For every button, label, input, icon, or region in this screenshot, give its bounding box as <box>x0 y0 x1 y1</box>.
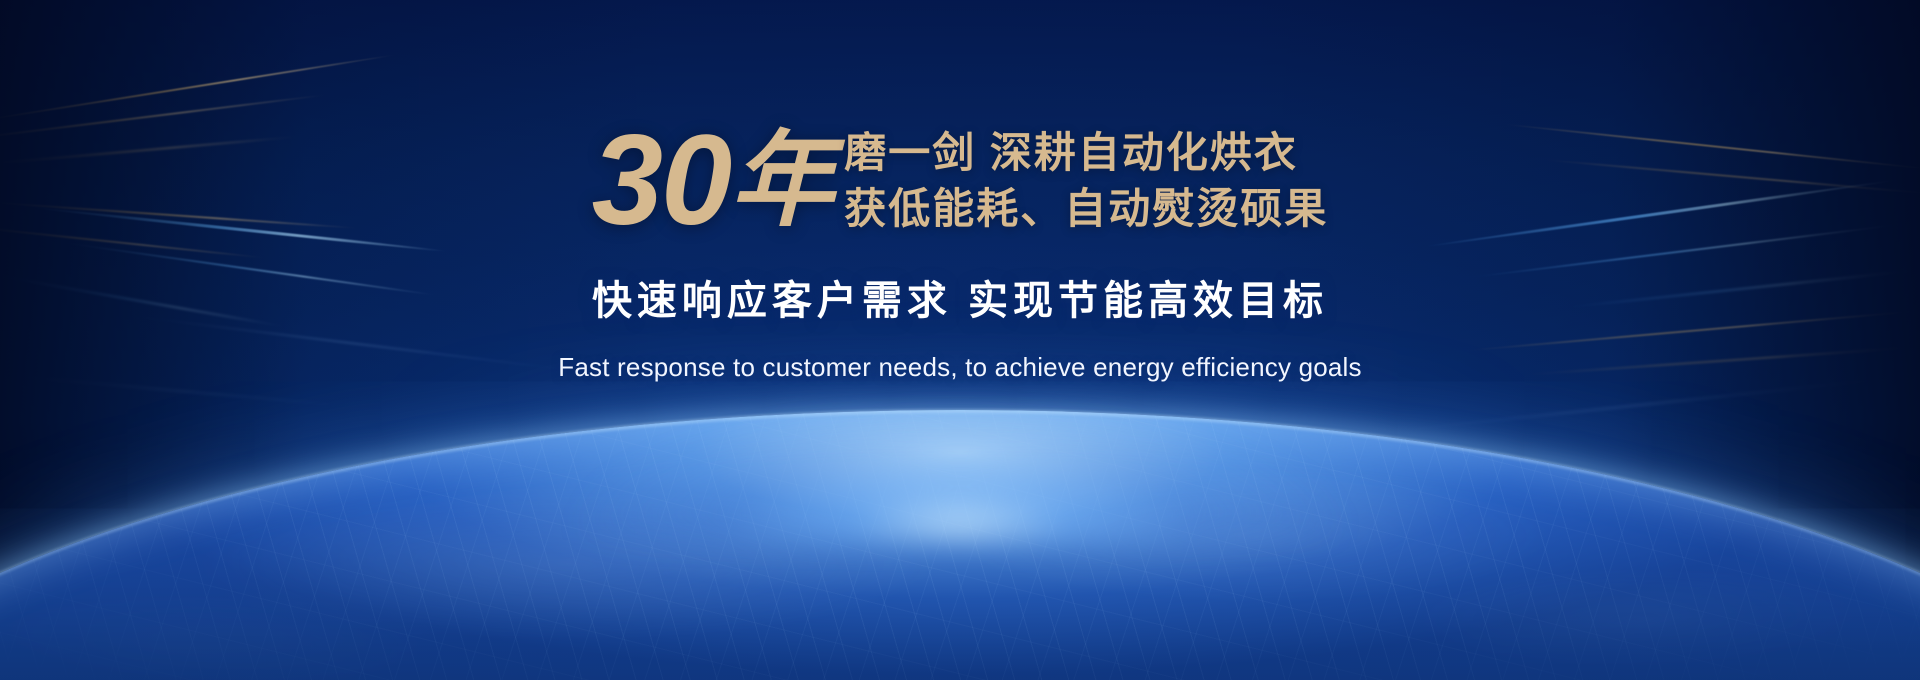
banner-content: 30 年 磨一剑 深耕自动化烘衣 获低能耗、自动熨烫硕果 快速响应客户需求 实现… <box>0 120 1920 383</box>
gold-headline-line-2: 获低能耗、自动熨烫硕果 <box>844 187 1328 231</box>
subheadline-english: Fast response to customer needs, to achi… <box>0 352 1920 383</box>
anniversary-number: 30 <box>592 120 732 242</box>
gold-headline-lines: 磨一剑 深耕自动化烘衣 获低能耗、自动熨烫硕果 <box>844 131 1328 231</box>
headline-row: 30 年 磨一剑 深耕自动化烘衣 获低能耗、自动熨烫硕果 <box>0 120 1920 242</box>
anniversary-unit-year: 年 <box>730 129 834 233</box>
gold-headline-line-1: 磨一剑 深耕自动化烘衣 <box>844 131 1328 175</box>
subheadline-chinese: 快速响应客户需求 实现节能高效目标 <box>0 268 1920 326</box>
hero-banner: 30 年 磨一剑 深耕自动化烘衣 获低能耗、自动熨烫硕果 快速响应客户需求 实现… <box>0 0 1920 680</box>
